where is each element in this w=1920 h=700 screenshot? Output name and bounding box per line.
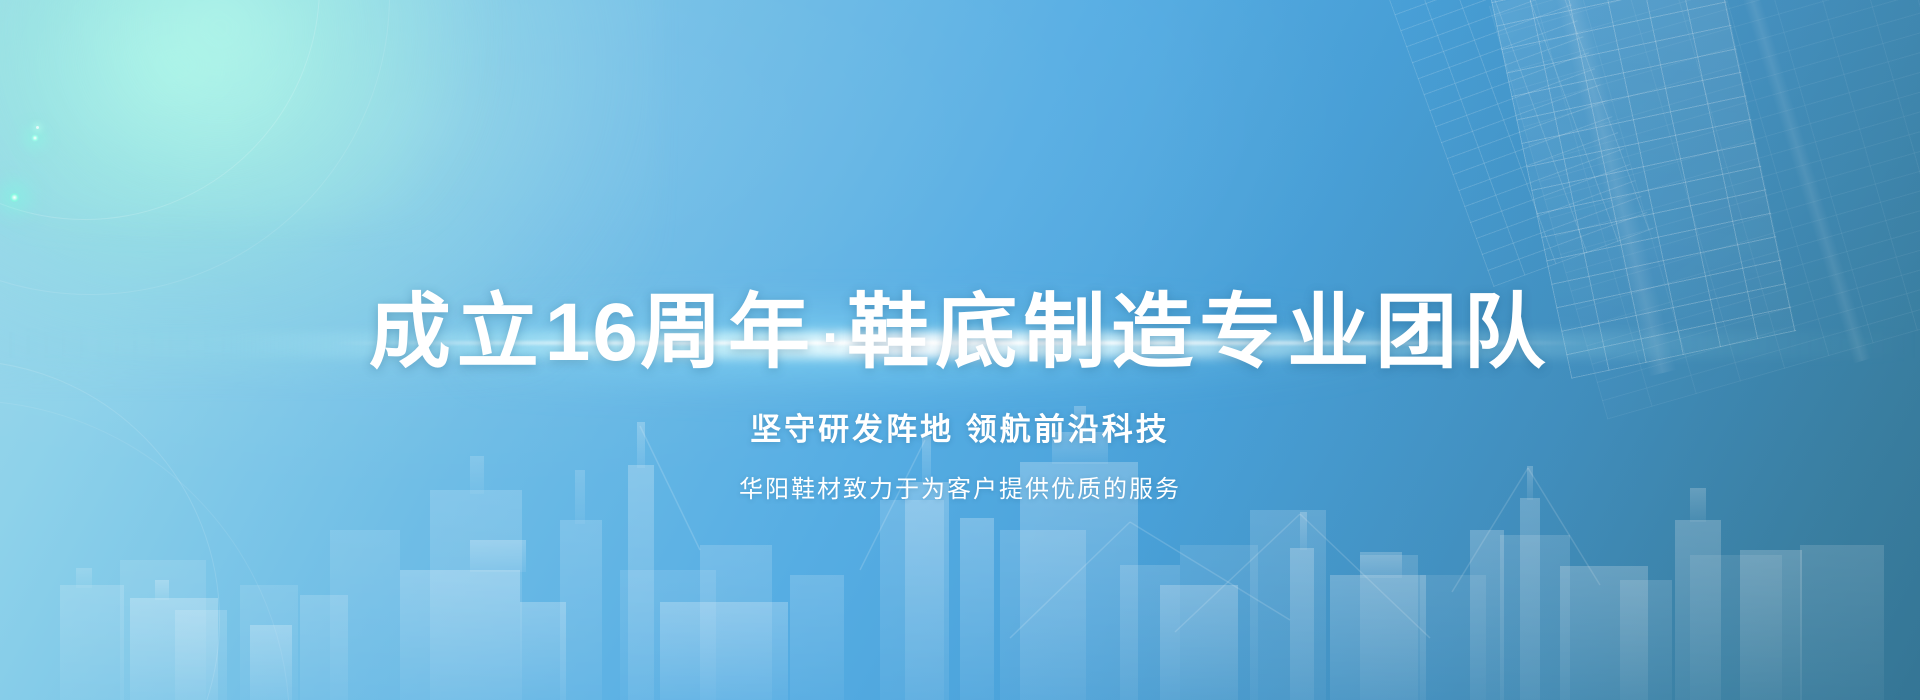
banner-headline: 成立16周年·鞋底制造专业团队	[369, 290, 1552, 376]
banner-tagline: 华阳鞋材致力于为客户提供优质的服务	[739, 469, 1181, 504]
headline-prefix: 成立	[369, 287, 545, 378]
headline-separator-dot: ·	[816, 305, 847, 370]
headline-suffix: 鞋底制造专业团队	[847, 287, 1551, 378]
headline-middle: 周年	[640, 287, 816, 378]
headline-number: 16	[545, 287, 640, 378]
banner-subtitle: 坚守研发阵地 领航前沿科技	[750, 404, 1170, 449]
hero-banner: 成立16周年·鞋底制造专业团队 坚守研发阵地 领航前沿科技 华阳鞋材致力于为客户…	[0, 0, 1920, 700]
banner-content: 成立16周年·鞋底制造专业团队 坚守研发阵地 领航前沿科技 华阳鞋材致力于为客户…	[0, 0, 1920, 700]
